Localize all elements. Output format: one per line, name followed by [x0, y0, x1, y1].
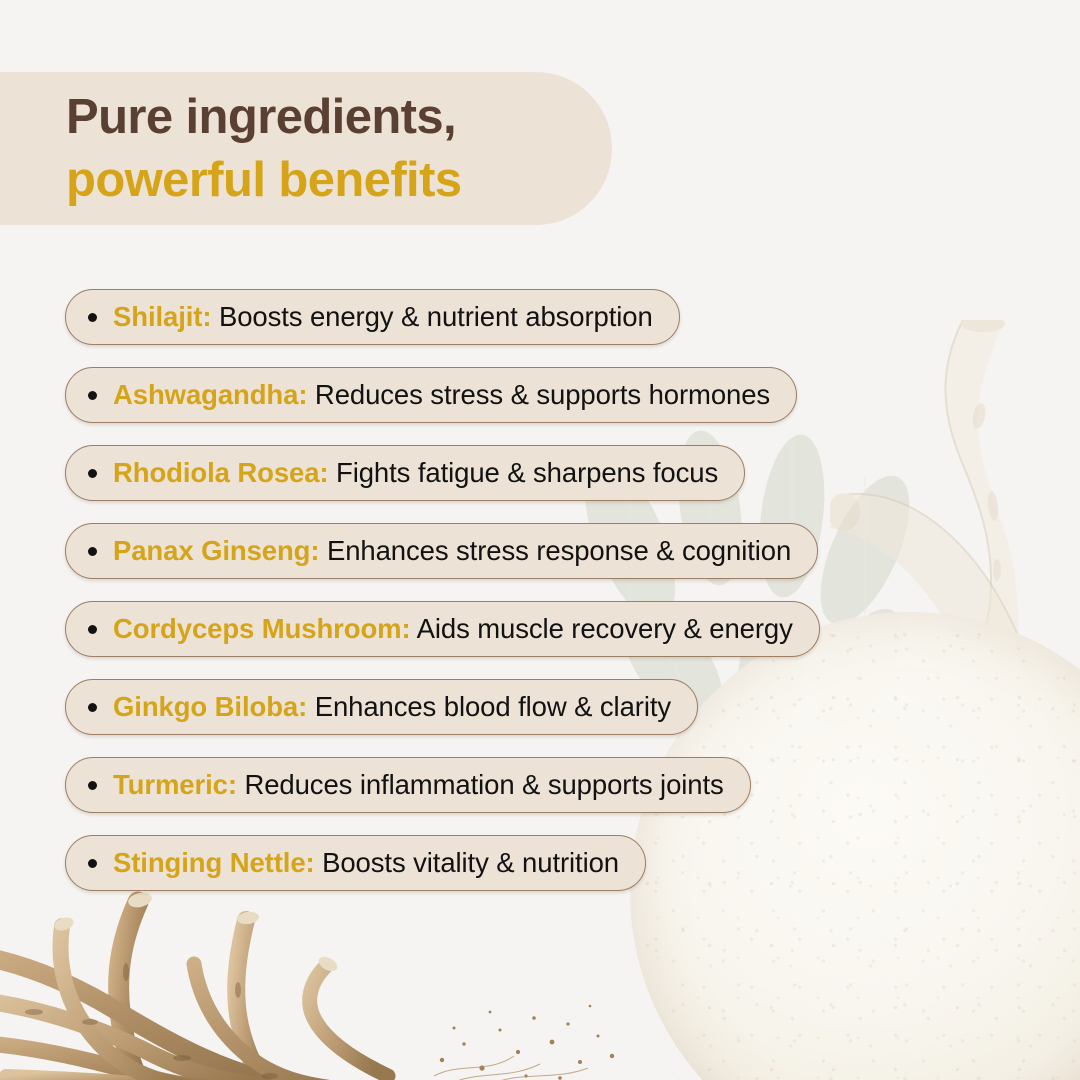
- benefit-description: Reduces inflammation & supports joints: [237, 769, 724, 800]
- benefit-description: Reduces stress & supports hormones: [307, 379, 770, 410]
- benefit-term: Stinging Nettle:: [113, 847, 315, 878]
- ashwagandha-roots-icon: [0, 880, 530, 1080]
- benefit-description: Enhances stress response & cognition: [319, 535, 791, 566]
- benefit-text: Turmeric: Reduces inflammation & support…: [113, 771, 724, 799]
- benefit-term: Rhodiola Rosea:: [113, 457, 328, 488]
- benefit-text: Ashwagandha: Reduces stress & supports h…: [113, 381, 770, 409]
- benefit-pill[interactable]: Stinging Nettle: Boosts vitality & nutri…: [65, 835, 646, 891]
- bullet-icon: [88, 703, 97, 712]
- benefit-pill[interactable]: Shilajit: Boosts energy & nutrient absor…: [65, 289, 680, 345]
- benefit-text: Shilajit: Boosts energy & nutrient absor…: [113, 303, 653, 331]
- benefit-text: Rhodiola Rosea: Fights fatigue & sharpen…: [113, 459, 718, 487]
- benefit-text: Panax Ginseng: Enhances stress response …: [113, 537, 791, 565]
- benefit-text: Cordyceps Mushroom: Aids muscle recovery…: [113, 615, 793, 643]
- header-badge: Pure ingredients, powerful benefits: [0, 72, 612, 225]
- benefit-pill[interactable]: Turmeric: Reduces inflammation & support…: [65, 757, 751, 813]
- headline-line-2: powerful benefits: [66, 149, 612, 212]
- benefit-term: Cordyceps Mushroom:: [113, 613, 411, 644]
- benefit-text: Ginkgo Biloba: Enhances blood flow & cla…: [113, 693, 671, 721]
- powder-scatter-icon: [430, 990, 630, 1080]
- bullet-icon: [88, 469, 97, 478]
- benefit-term: Turmeric:: [113, 769, 237, 800]
- benefit-description: Enhances blood flow & clarity: [307, 691, 671, 722]
- bullet-icon: [88, 781, 97, 790]
- bullet-icon: [88, 391, 97, 400]
- bullet-icon: [88, 547, 97, 556]
- bullet-icon: [88, 859, 97, 868]
- benefit-pill[interactable]: Panax Ginseng: Enhances stress response …: [65, 523, 818, 579]
- benefit-description: Fights fatigue & sharpens focus: [328, 457, 718, 488]
- bullet-icon: [88, 625, 97, 634]
- benefit-description: Boosts energy & nutrient absorption: [211, 301, 652, 332]
- benefit-pill[interactable]: Ashwagandha: Reduces stress & supports h…: [65, 367, 797, 423]
- benefit-description: Boosts vitality & nutrition: [315, 847, 619, 878]
- benefits-list: Shilajit: Boosts energy & nutrient absor…: [65, 289, 1025, 891]
- benefit-pill[interactable]: Rhodiola Rosea: Fights fatigue & sharpen…: [65, 445, 745, 501]
- benefit-text: Stinging Nettle: Boosts vitality & nutri…: [113, 849, 619, 877]
- benefit-term: Ginkgo Biloba:: [113, 691, 307, 722]
- headline-line-1: Pure ingredients,: [66, 86, 612, 149]
- benefit-description: Aids muscle recovery & energy: [411, 613, 793, 644]
- benefit-term: Shilajit:: [113, 301, 211, 332]
- benefit-pill[interactable]: Ginkgo Biloba: Enhances blood flow & cla…: [65, 679, 698, 735]
- bullet-icon: [88, 313, 97, 322]
- benefit-term: Panax Ginseng:: [113, 535, 319, 566]
- benefit-term: Ashwagandha:: [113, 379, 307, 410]
- benefit-pill[interactable]: Cordyceps Mushroom: Aids muscle recovery…: [65, 601, 820, 657]
